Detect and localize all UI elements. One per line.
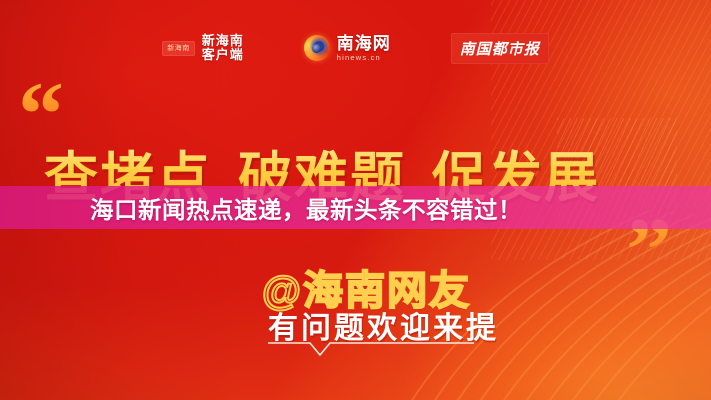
globe-icon	[304, 35, 330, 61]
xinhainan-line2: 客户端	[202, 47, 244, 62]
logo-hinews[interactable]: 南海网 hinews.cn	[304, 35, 391, 62]
hinews-label: 南海网 hinews.cn	[337, 35, 391, 62]
xinhainan-label: 新海南 客户端	[202, 34, 244, 62]
xinhainan-line1: 新海南	[202, 33, 244, 48]
speech-bubble-pointer	[268, 340, 474, 358]
overlay-headline-text: 海口新闻热点速递，最新头条不容错过！	[90, 191, 522, 225]
hinews-cn-text: 南海网	[337, 35, 391, 52]
xinhainan-badge: 新海南	[162, 41, 195, 56]
logo-nanguo-dushibao[interactable]: 南国都市报	[451, 33, 549, 64]
hinews-en-text: hinews.cn	[337, 54, 391, 62]
logo-xinhainan[interactable]: 新海南 新海南 客户端	[162, 34, 244, 62]
nanguo-dushibao-text: 南国都市报	[451, 33, 549, 64]
news-banner-image: 新海南 新海南 客户端 南海网 hinews.cn 南国都市报 “ ” 查堵点 …	[0, 0, 711, 400]
headline-overlay-band: 海口新闻热点速递，最新头条不容错过！	[0, 186, 711, 229]
publisher-logo-row: 新海南 新海南 客户端 南海网 hinews.cn 南国都市报	[0, 26, 711, 70]
